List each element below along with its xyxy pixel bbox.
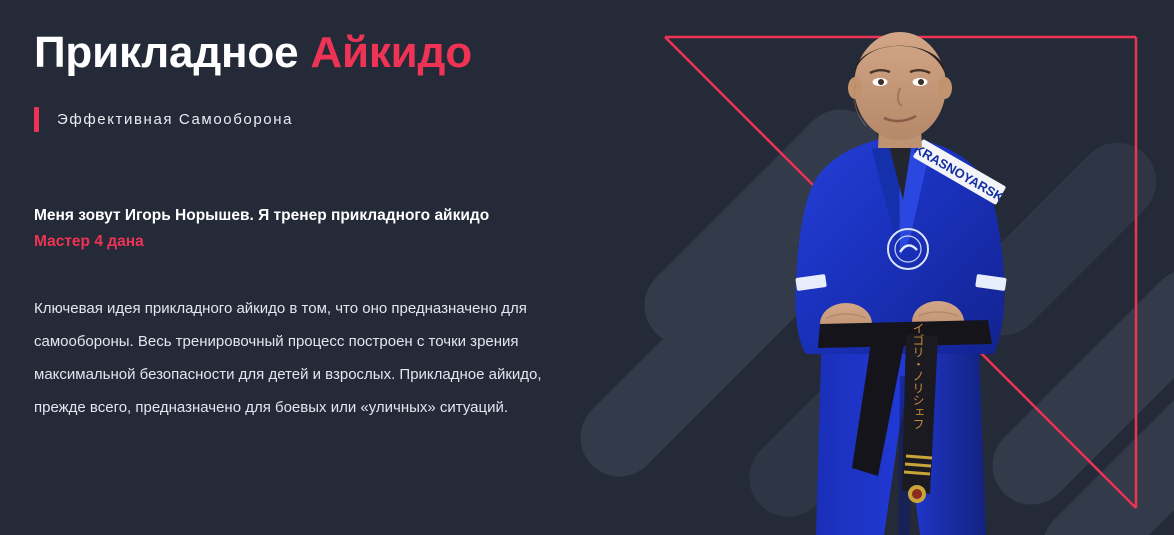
shoulder-stripe-text: KRASNOYARSK	[912, 141, 1007, 205]
belt-embroidery-text: イゴリ・ノリシェフ	[911, 322, 925, 430]
subtitle-row: Эффективная Самооборона	[34, 107, 594, 132]
black-belt: イゴリ・ノリシェフ	[818, 320, 992, 503]
diagonal-bar	[1026, 335, 1174, 535]
chest-emblem	[888, 229, 928, 269]
neck	[878, 108, 922, 148]
gi-lapel-left	[872, 136, 910, 256]
hair	[854, 46, 946, 76]
eye-right	[913, 78, 928, 86]
ear-right	[938, 77, 952, 99]
body-paragraph: Ключевая идея прикладного айкидо в том, …	[34, 292, 579, 424]
gi-trousers	[816, 324, 986, 535]
undershirt	[888, 142, 912, 200]
hand-left	[820, 303, 872, 345]
page-title: Прикладное Айкидо	[34, 0, 594, 79]
diagonal-bar	[564, 225, 831, 492]
nose	[898, 88, 902, 106]
subtitle-text: Эффективная Самооборона	[57, 110, 293, 130]
frame-diagonal	[665, 37, 1136, 508]
rank-text: Мастер 4 дана	[34, 230, 594, 254]
title-accent: Айкидо	[310, 28, 472, 77]
shoulder-stripe: KRASNOYARSK	[911, 138, 1009, 207]
belt-rank-stripes	[904, 456, 932, 474]
sleeve-cuff-right	[975, 274, 1007, 291]
eyebrow-right	[910, 70, 930, 73]
head	[854, 32, 946, 140]
diagonal-bar	[948, 127, 1173, 352]
gi-jacket	[795, 136, 1004, 354]
belt-emblem	[908, 485, 926, 503]
title-primary: Прикладное	[34, 28, 298, 77]
accent-bar-icon	[34, 107, 39, 132]
hero-section: KRASNOYARSK	[0, 0, 1174, 535]
coach-photo: KRASNOYARSK	[760, 24, 1040, 535]
mouth	[884, 116, 916, 121]
hero-text-column: Прикладное Айкидо Эффективная Самооборон…	[34, 0, 594, 535]
eyebrow-left	[870, 70, 890, 73]
diagonal-bar	[628, 93, 895, 360]
ear-left	[848, 77, 862, 99]
lead-paragraph: Меня зовут Игорь Норышев. Я тренер прикл…	[34, 204, 594, 254]
diagonal-bar	[976, 253, 1174, 520]
lead-text: Меня зовут Игорь Норышев. Я тренер прикл…	[34, 207, 489, 224]
sleeve-cuff-left	[795, 274, 827, 291]
hand-right	[912, 301, 964, 343]
eye-left	[873, 78, 888, 86]
diagonal-bar	[733, 329, 937, 533]
gi-lapel-right	[899, 136, 930, 256]
